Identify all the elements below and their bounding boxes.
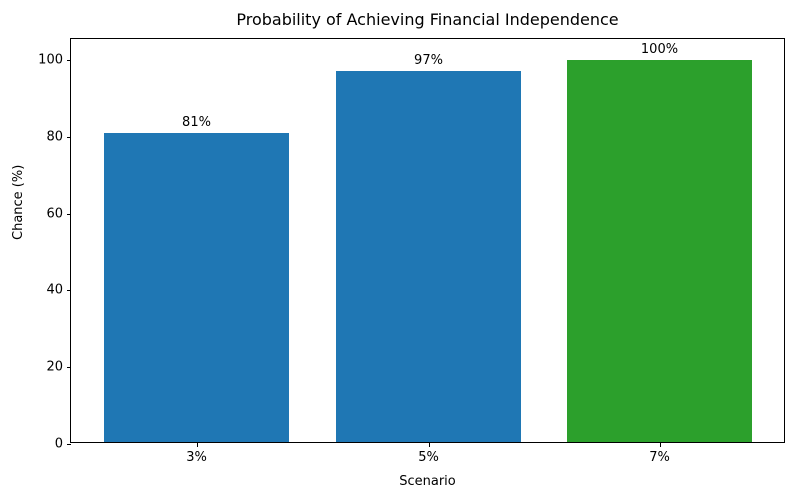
y-tick-label: 20: [46, 360, 63, 375]
bar-scenario-3[interactable]: [104, 133, 289, 442]
bar-scenario-5[interactable]: [336, 71, 521, 442]
y-tick-label: 100: [38, 53, 63, 68]
y-tick-label: 80: [46, 129, 63, 144]
bar-value-label-3: 81%: [104, 115, 289, 133]
bar-scenario-7[interactable]: [567, 60, 752, 442]
bars-layer: 81% 97% 100%: [71, 39, 784, 442]
chart-title: Probability of Achieving Financial Indep…: [70, 10, 785, 29]
plot-area: 0 20 40 60 80 100 81% 97% 10: [70, 38, 785, 443]
x-tick-mark: [197, 442, 198, 447]
chart-figure: Probability of Achieving Financial Indep…: [0, 0, 800, 500]
x-tick-mark: [660, 442, 661, 447]
x-tick-label: 7%: [649, 450, 670, 465]
y-tick-label: 40: [46, 283, 63, 298]
bar-value-label-5: 97%: [336, 53, 521, 71]
y-tick-label: 60: [46, 206, 63, 221]
x-tick-label: 3%: [186, 450, 207, 465]
y-tick-mark: [67, 444, 72, 445]
y-axis-label: Chance (%): [11, 165, 26, 240]
bar-value-label-7: 100%: [567, 42, 752, 60]
x-tick-label: 5%: [418, 450, 439, 465]
x-tick-mark: [429, 442, 430, 447]
x-axis-label: Scenario: [70, 474, 785, 489]
y-tick-label: 0: [55, 437, 63, 452]
